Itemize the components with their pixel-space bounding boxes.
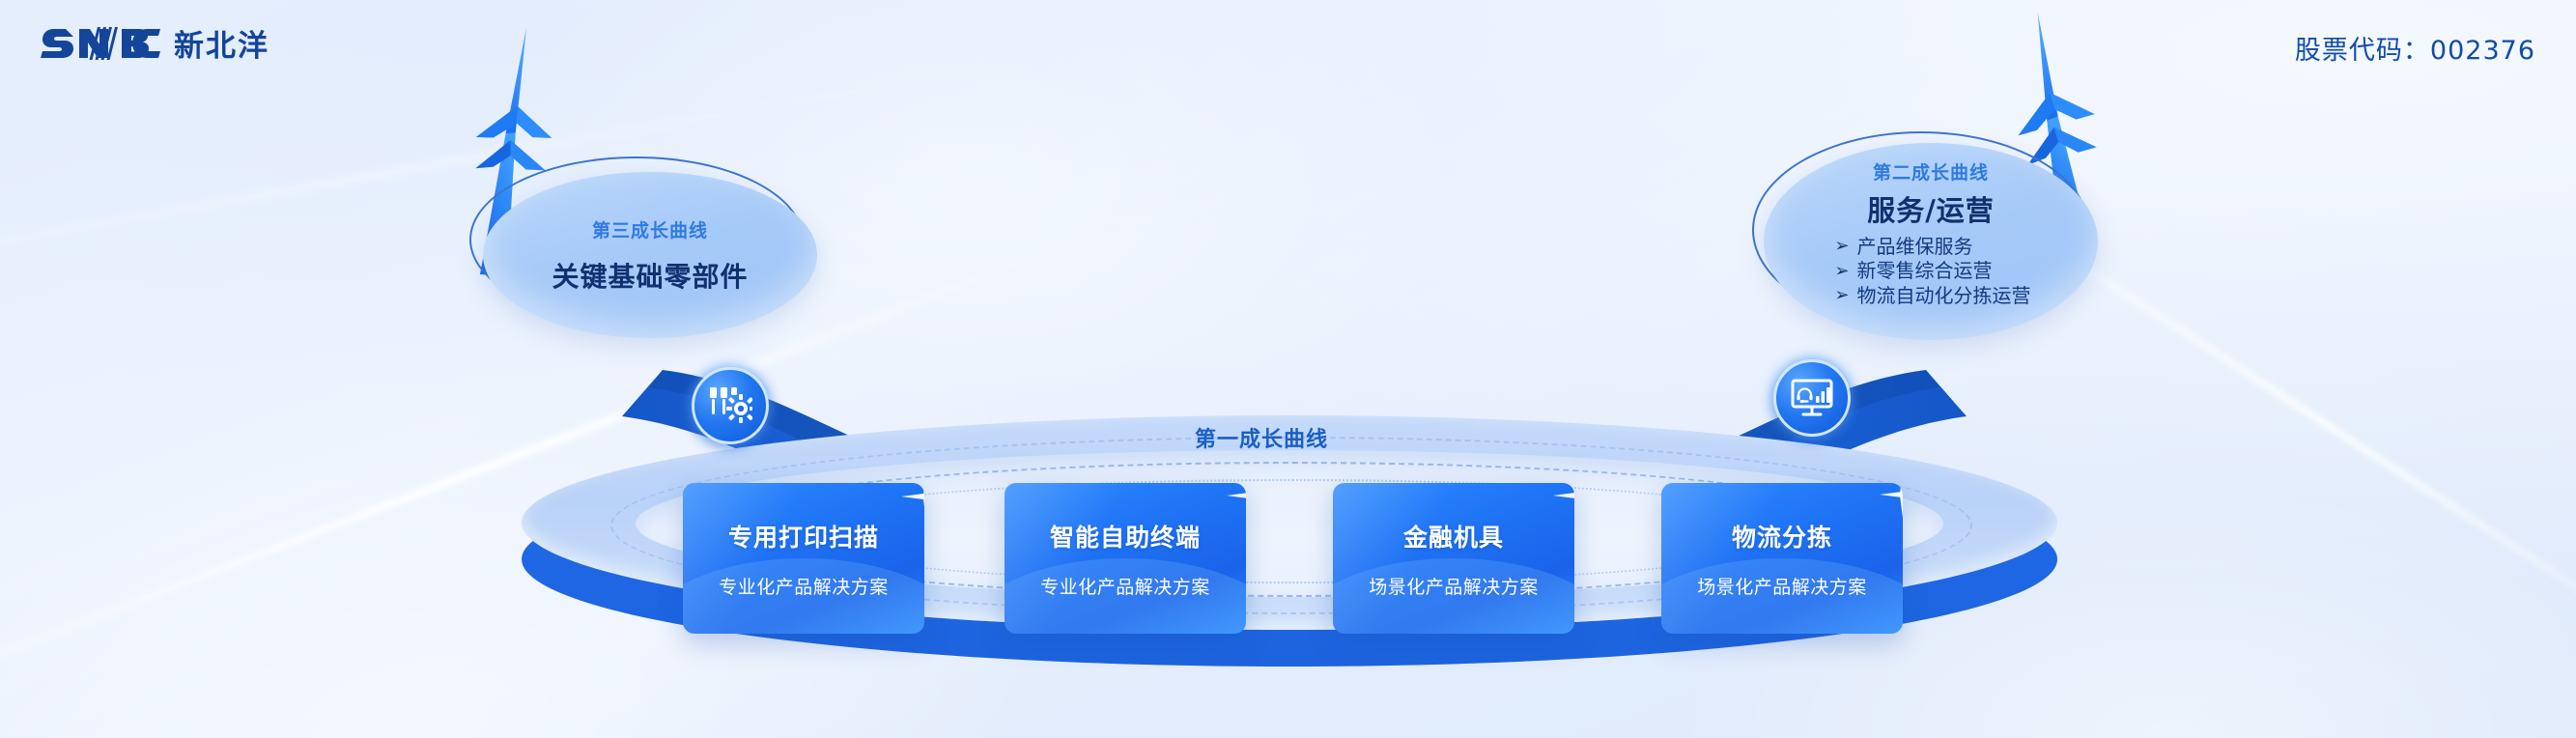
product-card-title: 智能自助终端 bbox=[1050, 519, 1201, 553]
product-card-title: 专用打印扫描 bbox=[728, 519, 879, 553]
list-item: ➢ 物流自动化分拣运营 bbox=[1834, 284, 2030, 307]
list-item-label: 产品维保服务 bbox=[1857, 235, 1973, 258]
infographic-canvas: 新北洋 股票代码：002376 bbox=[0, 0, 2576, 738]
product-card-title: 金融机具 bbox=[1403, 519, 1504, 553]
bullet-arrow-icon: ➢ bbox=[1834, 261, 1849, 282]
product-card-subtitle: 专业化产品解决方案 bbox=[719, 573, 889, 599]
components-gear-icon[interactable] bbox=[692, 367, 769, 444]
third-curve-title: 关键基础零部件 bbox=[552, 256, 748, 295]
product-card-subtitle: 场景化产品解决方案 bbox=[1697, 573, 1867, 599]
product-card-subtitle: 场景化产品解决方案 bbox=[1369, 573, 1539, 599]
list-item-label: 新零售综合运营 bbox=[1857, 259, 1993, 282]
logo-chinese-name: 新北洋 bbox=[174, 21, 269, 65]
card-highlight bbox=[683, 483, 924, 634]
product-card-4[interactable]: 物流分拣 场景化产品解决方案 bbox=[1661, 483, 1903, 634]
card-highlight bbox=[1661, 483, 1903, 634]
company-logo: 新北洋 bbox=[41, 21, 269, 65]
product-card-title: 物流分拣 bbox=[1732, 519, 1832, 553]
bullet-arrow-icon: ➢ bbox=[1834, 236, 1849, 257]
second-curve-subtitle: 第二成长曲线 bbox=[1873, 158, 1989, 184]
second-curve-bubble[interactable]: 第二成长曲线 服务/运营 ➢ 产品维保服务 ➢ 新零售综合运营 ➢ 物流自动化分… bbox=[1764, 143, 2098, 340]
list-item: ➢ 新零售综合运营 bbox=[1834, 259, 2030, 282]
third-curve-subtitle: 第三成长曲线 bbox=[592, 216, 708, 242]
card-highlight bbox=[1333, 483, 1574, 634]
product-card-2[interactable]: 智能自助终端 专业化产品解决方案 bbox=[1005, 483, 1246, 634]
stock-code-label: 股票代码：002376 bbox=[2295, 29, 2535, 67]
first-curve-label: 第一成长曲线 bbox=[1195, 422, 1328, 453]
snbc-logo-mark bbox=[41, 23, 160, 64]
list-item-label: 物流自动化分拣运营 bbox=[1857, 284, 2031, 307]
product-card-1[interactable]: 专用打印扫描 专业化产品解决方案 bbox=[683, 483, 924, 634]
list-item: ➢ 产品维保服务 bbox=[1834, 235, 2030, 258]
service-monitor-headset-chart-icon[interactable] bbox=[1773, 359, 1851, 437]
product-card-3[interactable]: 金融机具 场景化产品解决方案 bbox=[1333, 483, 1574, 634]
card-highlight bbox=[1005, 483, 1246, 634]
second-curve-title: 服务/运营 bbox=[1867, 188, 1995, 229]
third-curve-bubble[interactable]: 第三成长曲线 关键基础零部件 bbox=[483, 172, 817, 338]
second-curve-list: ➢ 产品维保服务 ➢ 新零售综合运营 ➢ 物流自动化分拣运营 bbox=[1830, 235, 2030, 307]
product-card-subtitle: 专业化产品解决方案 bbox=[1040, 573, 1210, 599]
bullet-arrow-icon: ➢ bbox=[1834, 285, 1849, 306]
